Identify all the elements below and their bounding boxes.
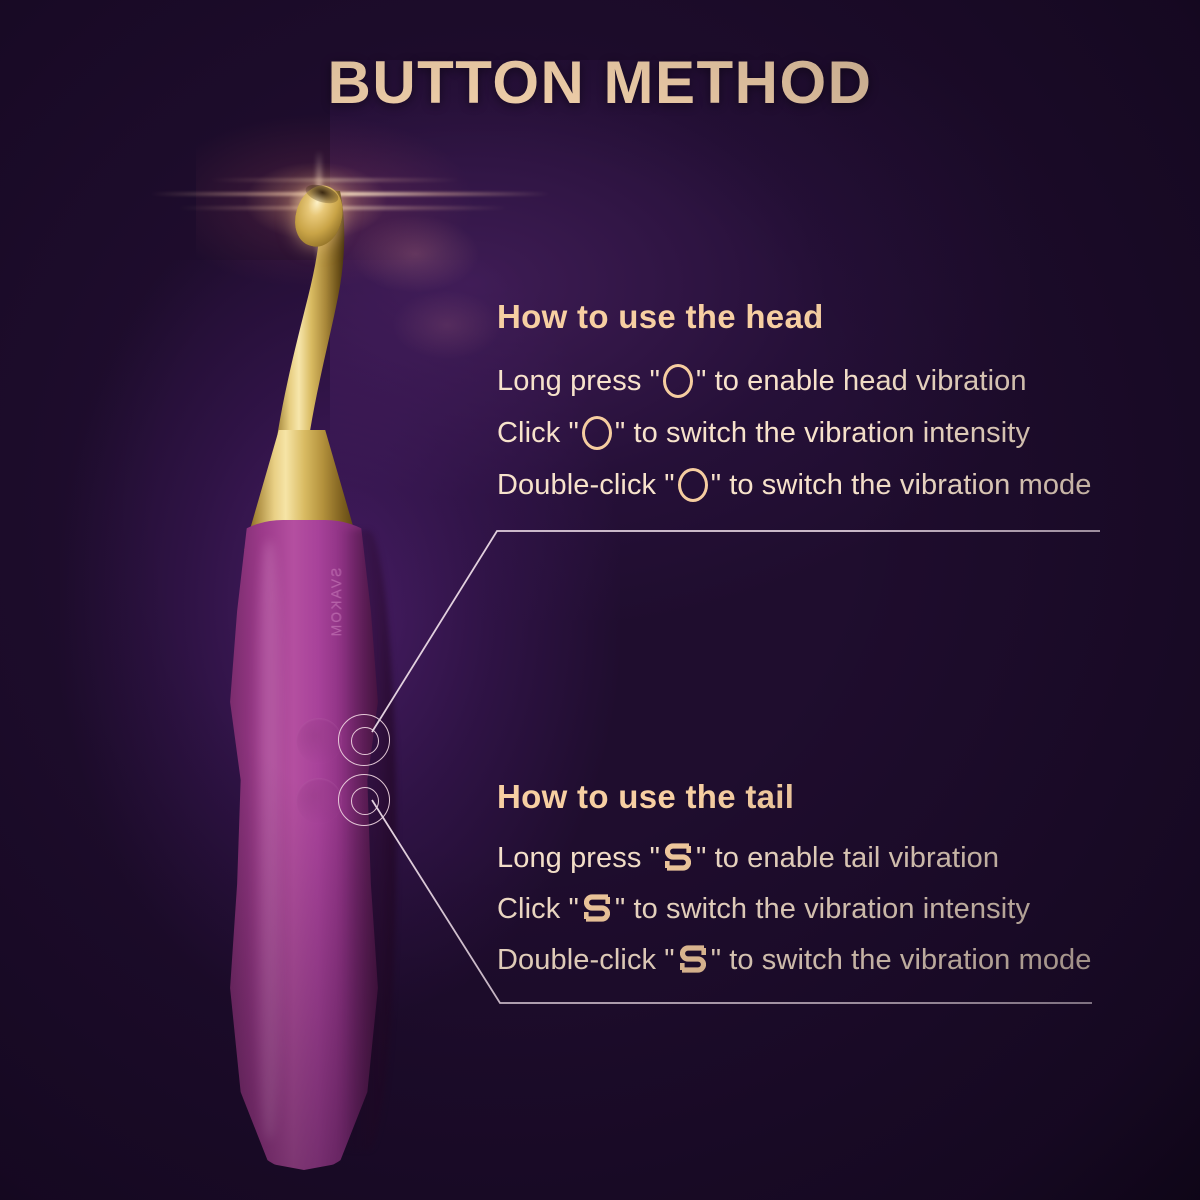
product-illustration: SVAKOM xyxy=(0,0,560,1200)
section-tail-heading: How to use the tail xyxy=(497,778,1092,816)
section-tail: How to use the tail Long press " " to en… xyxy=(497,778,1092,977)
section-head-line-3: Double-click " " to switch the vibration… xyxy=(497,468,1092,502)
line-prefix: Double-click " xyxy=(497,944,675,977)
callout-ring-tail-button xyxy=(338,774,390,826)
line-suffix: " to enable tail vibration xyxy=(696,842,999,875)
section-tail-line-1: Long press " " to enable tail vibration xyxy=(497,842,1092,875)
tip-light-streak xyxy=(210,178,460,182)
line-prefix: Click " xyxy=(497,893,579,926)
wave-s-button-icon xyxy=(665,843,691,875)
line-suffix: " to switch the vibration mode xyxy=(711,944,1092,977)
section-head-line-2: Click " " to switch the vibration intens… xyxy=(497,416,1092,450)
background-haze xyxy=(392,290,502,360)
line-suffix: " to switch the vibration intensity xyxy=(615,417,1030,450)
section-tail-line-2: Click " " to switch the vibration intens… xyxy=(497,893,1092,926)
section-tail-line-3: Double-click " " to switch the vibration… xyxy=(497,944,1092,977)
tip-glow-icon xyxy=(196,110,496,300)
line-prefix: Double-click " xyxy=(497,469,675,502)
circle-button-icon xyxy=(582,416,612,450)
infographic-canvas: BUTTON METHOD xyxy=(0,0,1200,1200)
background-haze xyxy=(350,215,480,293)
line-prefix: Click " xyxy=(497,417,579,450)
section-head-heading: How to use the head xyxy=(497,298,1092,336)
tip-light-streak xyxy=(150,192,550,196)
brand-mark: SVAKOM xyxy=(327,568,343,639)
section-head-line-1: Long press " " to enable head vibration xyxy=(497,364,1092,398)
line-suffix: " to switch the vibration intensity xyxy=(615,893,1030,926)
tip-light-streak xyxy=(178,206,508,210)
callout-ring-head-button xyxy=(338,714,390,766)
line-prefix: Long press " xyxy=(497,842,660,875)
wave-s-button-icon xyxy=(584,894,610,926)
line-suffix: " to enable head vibration xyxy=(696,365,1027,398)
product-body xyxy=(216,520,392,1170)
circle-button-icon xyxy=(678,468,708,502)
line-prefix: Long press " xyxy=(497,365,660,398)
wave-s-button-icon xyxy=(680,945,706,977)
section-head: How to use the head Long press " " to en… xyxy=(497,298,1092,502)
circle-button-icon xyxy=(663,364,693,398)
line-suffix: " to switch the vibration mode xyxy=(711,469,1092,502)
